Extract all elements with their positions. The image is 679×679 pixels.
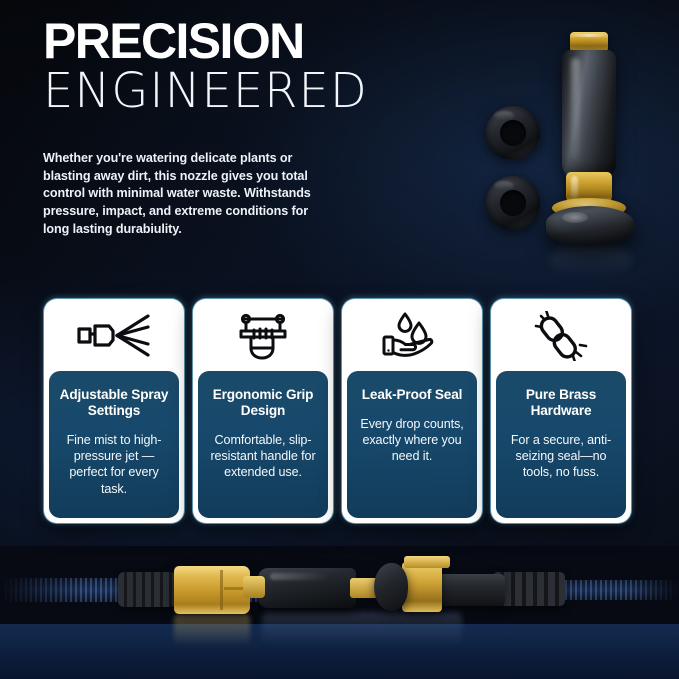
chain-link-icon (491, 299, 631, 373)
brass-hose-fitting (174, 566, 250, 614)
feature-card-body: Adjustable Spray Settings Fine mist to h… (49, 371, 179, 518)
washer-ring-icon (486, 176, 540, 230)
hose-strain-relief-collar (118, 572, 176, 607)
feature-card-title: Ergonomic Grip Design (205, 387, 321, 419)
feature-card-body: Pure Brass Hardware For a secure, anti-s… (496, 371, 626, 518)
feature-card-ergonomic-grip[interactable]: Ergonomic Grip Design Comfortable, slip-… (193, 299, 333, 523)
nozzle-brass-tip (243, 576, 265, 598)
washer-ring-icon (486, 106, 540, 160)
feature-card-body: Ergonomic Grip Design Comfortable, slip-… (198, 371, 328, 518)
nozzle-base (546, 206, 634, 246)
headline-line-1: PRECISION (43, 18, 368, 65)
feature-card-desc: For a secure, anti-seizing seal—no tools… (503, 432, 619, 481)
feature-card-desc: Fine mist to high-pressure jet — perfect… (56, 432, 172, 497)
spray-nozzle-icon (44, 299, 184, 373)
brass-shutoff-valve (402, 562, 442, 612)
nozzle-top-gold-ring (570, 32, 608, 52)
product-image-nozzle (466, 14, 676, 272)
feature-card-title: Adjustable Spray Settings (56, 387, 172, 419)
product-infographic: PRECISION ENGINEERED Whether you're wate… (0, 0, 679, 679)
feature-card-desc: Every drop counts, exactly where you nee… (354, 416, 470, 465)
nozzle-assembly-reflection (262, 612, 462, 646)
feature-card-title: Pure Brass Hardware (503, 387, 619, 419)
nozzle-rubber-grip (258, 568, 356, 608)
hero-paragraph: Whether you're watering delicate plants … (43, 150, 335, 238)
brass-fitting-reflection (174, 614, 250, 646)
nozzle-reflection (550, 244, 632, 278)
hand-water-drop-icon (342, 299, 482, 373)
expandable-hose-right (560, 580, 679, 600)
nozzle-valve-knob (374, 563, 408, 611)
valve-lever (404, 556, 450, 568)
feature-card-pure-brass[interactable]: Pure Brass Hardware For a secure, anti-s… (491, 299, 631, 523)
feature-card-adjustable-spray[interactable]: Adjustable Spray Settings Fine mist to h… (44, 299, 184, 523)
nozzle-barrel (562, 50, 616, 178)
feature-card-title: Leak-Proof Seal (354, 387, 470, 403)
page-title: PRECISION ENGINEERED (43, 18, 368, 114)
hand-grip-icon (193, 299, 333, 373)
feature-card-body: Leak-Proof Seal Every drop counts, exact… (347, 371, 477, 518)
feature-card-leak-proof-seal[interactable]: Leak-Proof Seal Every drop counts, exact… (342, 299, 482, 523)
headline-line-2: ENGINEERED (43, 69, 368, 114)
feature-card-list: Adjustable Spray Settings Fine mist to h… (44, 299, 631, 523)
feature-card-desc: Comfortable, slip-resistant handle for e… (205, 432, 321, 481)
